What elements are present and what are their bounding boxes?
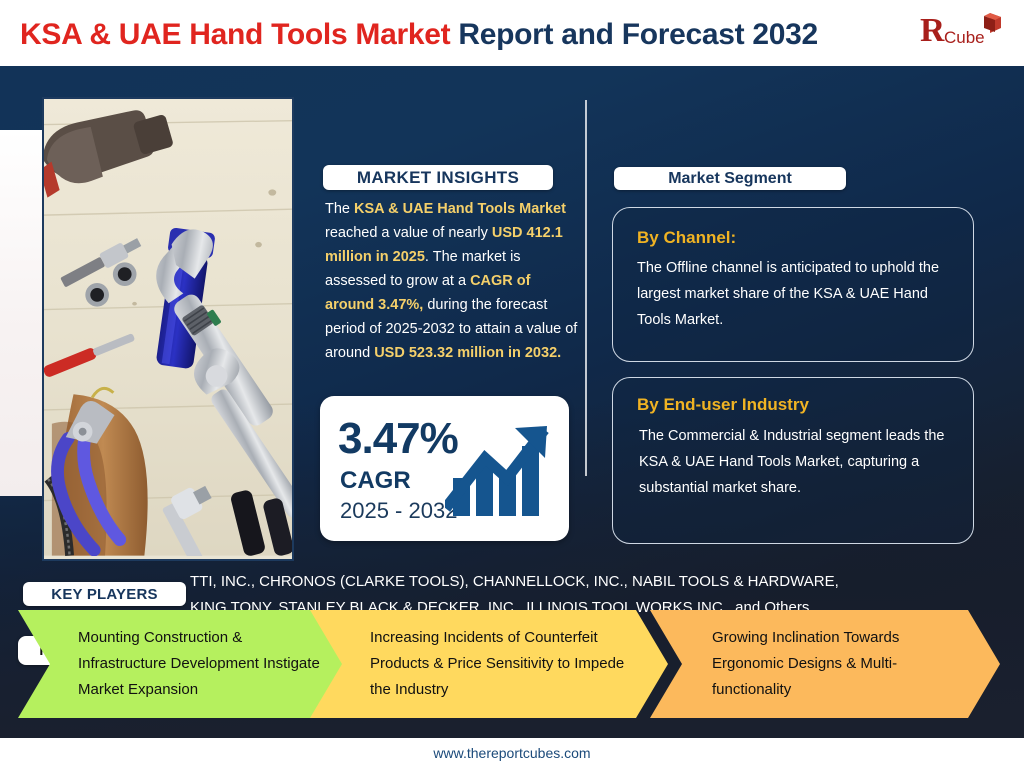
segment-card-by-channel: By Channel: The Offline channel is antic… <box>612 207 974 362</box>
segment-card-body: The Commercial & Industrial segment lead… <box>639 423 951 501</box>
dynamics-arrow-3: Growing Inclination Towards Ergonomic De… <box>650 610 1000 718</box>
page-title-red: KSA & UAE Hand Tools Market <box>20 18 450 51</box>
dynamics-arrow-3-text: Growing Inclination Towards Ergonomic De… <box>712 625 942 703</box>
cagr-label: CAGR <box>340 467 411 495</box>
cube-3d-icon <box>976 10 1006 40</box>
insights-run-1: KSA & UAE Hand Tools Market <box>354 201 566 217</box>
dynamics-arrow-2: Increasing Incidents of Counterfeit Prod… <box>310 610 668 718</box>
insights-run-7: USD 523.32 million in 2032. <box>374 345 561 361</box>
segment-card-title: By Channel: <box>637 228 736 248</box>
dynamics-arrow-1: Mounting Construction & Infrastructure D… <box>18 610 368 718</box>
hand-tools-illustration <box>44 99 292 556</box>
key-players-badge: KEY PLAYERS <box>23 582 186 606</box>
market-insights-badge: MARKET INSIGHTS <box>323 165 553 190</box>
market-segment-badge: Market Segment <box>614 167 846 190</box>
hand-tools-photo <box>42 97 294 561</box>
dynamics-arrow-2-text: Increasing Incidents of Counterfeit Prod… <box>370 625 630 703</box>
logo-mark: Я <box>920 12 945 50</box>
footer-website[interactable]: www.thereportcubes.com <box>433 745 590 761</box>
insights-run-2: reached a value of nearly <box>325 225 492 241</box>
key-players-line-1: TTI, INC., CHRONOS (CLARKE TOOLS), CHANN… <box>190 569 990 595</box>
market-insights-badge-label: MARKET INSIGHTS <box>357 168 519 188</box>
segment-card-body: The Offline channel is anticipated to up… <box>637 255 949 333</box>
insights-run-0: The <box>325 201 354 217</box>
dynamics-arrow-1-text: Mounting Construction & Infrastructure D… <box>78 625 328 703</box>
key-players-badge-label: KEY PLAYERS <box>51 586 157 603</box>
cagr-card: 3.47% CAGR 2025 - 2032 <box>320 396 569 541</box>
segment-card-by-end-user-industry: By End-user Industry The Commercial & In… <box>612 377 974 544</box>
market-insights-text: The KSA & UAE Hand Tools Market reached … <box>325 197 579 365</box>
column-divider <box>585 100 587 476</box>
page-title: KSA & UAE Hand Tools Market Report and F… <box>20 18 818 52</box>
cagr-value: 3.47% <box>338 414 458 464</box>
infographic-page: KSA & UAE Hand Tools Market Report and F… <box>0 0 1024 768</box>
header-bar: KSA & UAE Hand Tools Market Report and F… <box>0 0 1024 66</box>
page-title-navy: Report and Forecast 2032 <box>458 18 818 51</box>
growth-bar-chart-arrow-icon <box>445 418 561 522</box>
market-dynamics-arrows: Mounting Construction & Infrastructure D… <box>0 610 1024 738</box>
main-canvas: MARKET INSIGHTS The KSA & UAE Hand Tools… <box>0 66 1024 738</box>
brand-logo[interactable]: Я Cube <box>914 8 1010 58</box>
market-segment-badge-label: Market Segment <box>668 170 792 188</box>
cagr-range: 2025 - 2032 <box>340 498 457 524</box>
segment-card-title: By End-user Industry <box>637 395 809 415</box>
footer-bar: www.thereportcubes.com <box>0 738 1024 768</box>
